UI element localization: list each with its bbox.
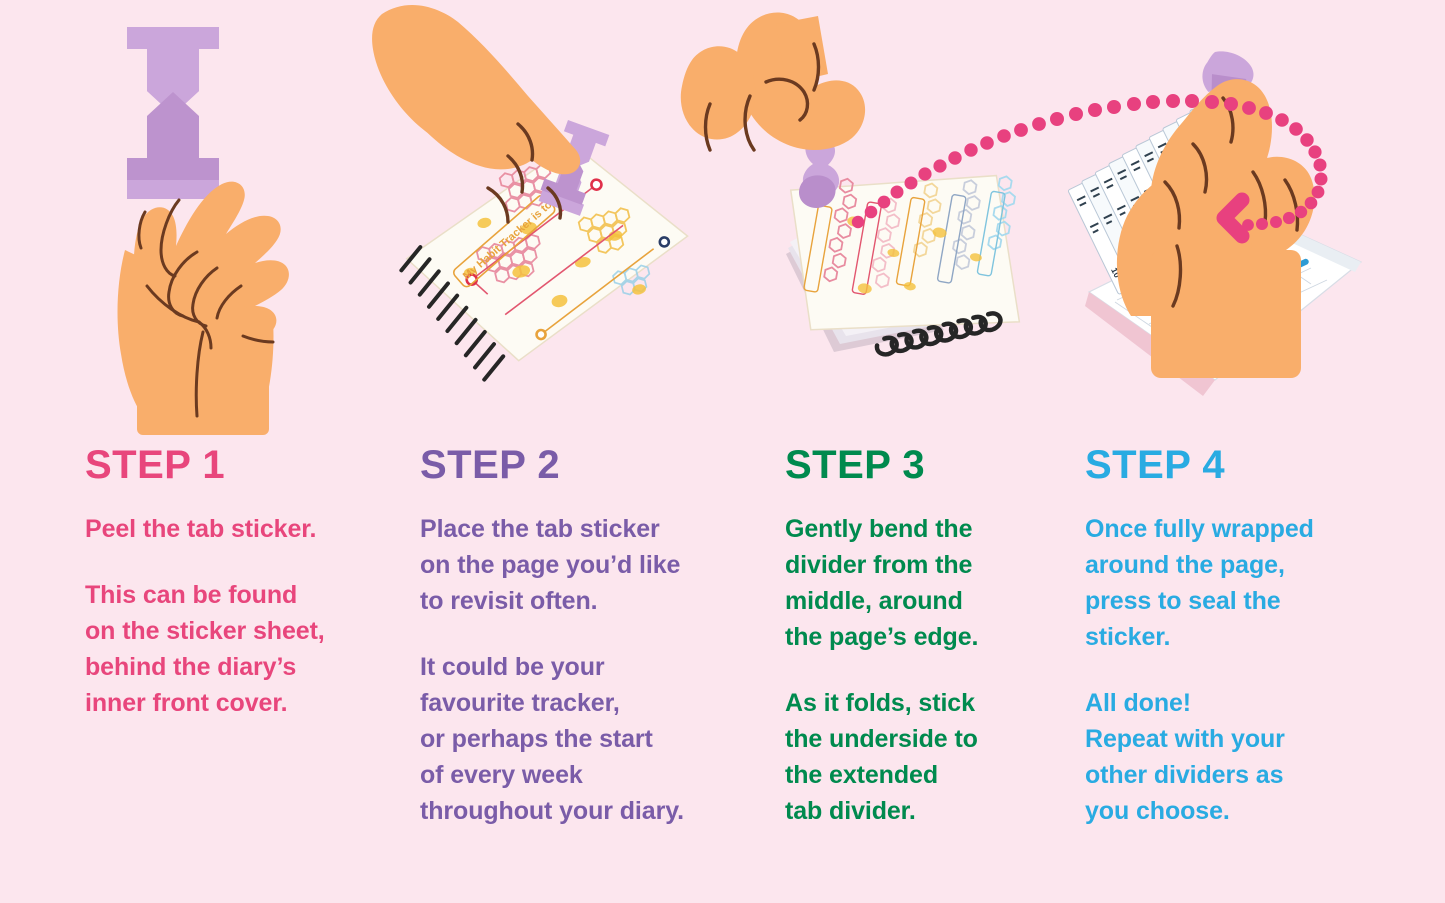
step-title-2: STEP 2 <box>420 445 750 485</box>
tab-sticker-hourglass <box>127 27 219 199</box>
step-title-4: STEP 4 <box>1085 445 1385 485</box>
step-column-2: STEP 2 Place the tab sticker on the page… <box>420 445 750 829</box>
step-column-1: STEP 1 Peel the tab sticker. This can be… <box>85 445 395 721</box>
illustration-step-3 <box>730 0 1060 445</box>
illustration-band: My Habit Tracker is to do <box>0 0 1445 445</box>
illustration-step-2: My Habit Tracker is to do <box>380 0 720 445</box>
hand-step-1 <box>118 182 289 435</box>
step-title-1: STEP 1 <box>85 445 395 485</box>
hand-step-2 <box>372 5 580 222</box>
step-paragraph-4-a: Once fully wrapped around the page, pres… <box>1085 511 1385 655</box>
step-column-3: STEP 3 Gently bend the divider from the … <box>785 445 1045 829</box>
step-paragraph-3-b: As it folds, stick the underside to the … <box>785 685 1045 829</box>
step-paragraph-4-b: All done! Repeat with your other divider… <box>1085 685 1385 829</box>
illustration-step-4: 10 9 8 7 6 5 4 3 2 1 <box>1055 0 1395 445</box>
step-text-columns: STEP 1 Peel the tab sticker. This can be… <box>0 445 1445 903</box>
illustration-step-1 <box>85 0 385 445</box>
step-paragraph-2-a: Place the tab sticker on the page you’d … <box>420 511 750 619</box>
instructional-infographic: My Habit Tracker is to do <box>0 0 1445 903</box>
step-paragraph-2-b: It could be your favourite tracker, or p… <box>420 649 750 829</box>
step-paragraph-1-a: Peel the tab sticker. <box>85 511 395 547</box>
step-paragraph-1-b: This can be found on the sticker sheet, … <box>85 577 395 721</box>
step-paragraph-3-a: Gently bend the divider from the middle,… <box>785 511 1045 655</box>
step-column-4: STEP 4 Once fully wrapped around the pag… <box>1085 445 1385 829</box>
step-title-3: STEP 3 <box>785 445 1045 485</box>
